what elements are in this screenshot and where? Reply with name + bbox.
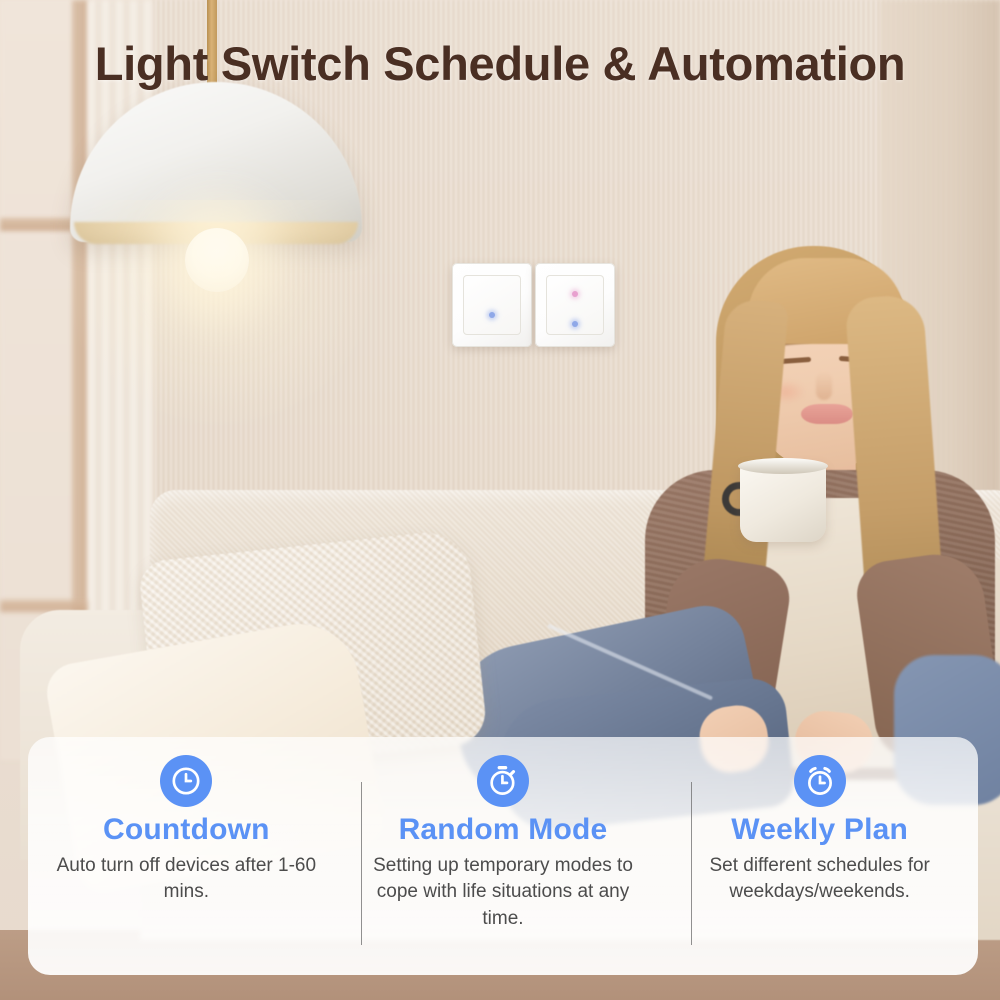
feature-title: Weekly Plan <box>731 814 908 846</box>
feature-panel: Countdown Auto turn off devices after 1-… <box>28 737 978 975</box>
feature-title: Random Mode <box>399 814 608 846</box>
switch-plate[interactable] <box>463 275 521 335</box>
switch-led-blue <box>489 312 495 318</box>
page-title: Light Switch Schedule & Automation <box>0 36 1000 91</box>
switch-led-blue <box>572 321 578 327</box>
feature-card-weekly-plan: Weekly Plan Set different schedules for … <box>661 737 978 975</box>
alarm-clock-icon <box>794 755 846 807</box>
feature-card-list: Countdown Auto turn off devices after 1-… <box>28 737 978 975</box>
mug-rim <box>738 458 828 474</box>
clock-icon <box>160 755 212 807</box>
feature-card-random-mode: Random Mode Setting up temporary modes t… <box>345 737 662 975</box>
lips <box>801 404 853 424</box>
switch-led-pink <box>572 291 578 297</box>
feature-description: Set different schedules for weekdays/wee… <box>675 853 965 907</box>
wall-switch-single[interactable] <box>452 263 532 347</box>
feature-title: Countdown <box>103 814 270 846</box>
feature-description: Auto turn off devices after 1-60 mins. <box>41 853 331 907</box>
promo-banner: Light Switch Schedule & Automation Count… <box>0 0 1000 1000</box>
mug <box>740 462 826 542</box>
lamp-bulb <box>185 228 249 292</box>
nose <box>816 372 832 400</box>
stopwatch-icon <box>477 755 529 807</box>
feature-description: Setting up temporary modes to cope with … <box>358 853 648 934</box>
wall-switch-double[interactable] <box>535 263 615 347</box>
feature-card-countdown: Countdown Auto turn off devices after 1-… <box>28 737 345 975</box>
